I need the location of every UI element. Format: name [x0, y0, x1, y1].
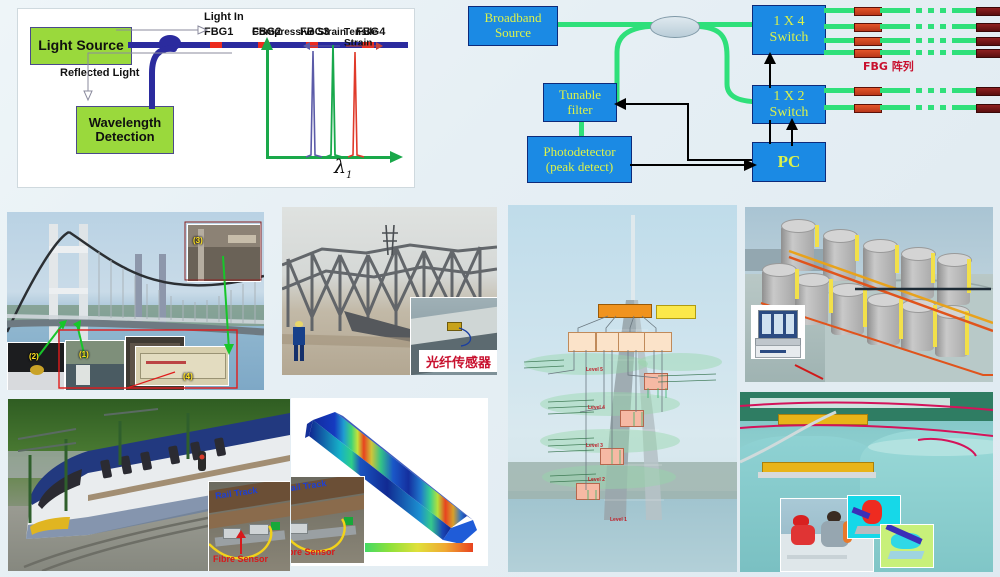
fem-rail-inset: Rail Track Fibre Sensor [291, 476, 365, 564]
wd-line2: Detection [95, 129, 154, 144]
pc-to-switch1x2-arrow [785, 118, 799, 146]
photodetector-to-pc-arrow [630, 158, 758, 172]
tower-level-4-label: Level 4 [588, 405, 605, 411]
fbg-array-row-2 [824, 24, 1000, 29]
laptop-screen [758, 310, 798, 340]
interrogator-inset [751, 305, 805, 359]
tower-level-3-label: Level 3 [586, 443, 603, 449]
photodetector-line2: (peak detect) [546, 159, 613, 174]
bridge-callout-4: (4) [183, 372, 193, 381]
fbg-array-row-1 [824, 8, 1000, 13]
tensile-peak [348, 47, 364, 159]
broadband-source-line1: Broadband [484, 10, 541, 25]
pc-to-tunable-filter-arrow [610, 90, 760, 190]
broadband-source-line2: Source [495, 25, 531, 40]
fbg-principle-panel: Light Source Wavelength Detection FBG1 F… [17, 8, 415, 188]
switch-1x4-line1: 1 X 4 [773, 14, 804, 29]
lambda-subscript: 1 [346, 170, 352, 181]
worker-red [791, 515, 817, 549]
tower-photo-panel: Level 5 Level 4 Level 3 Level 2 Level 1 [508, 205, 737, 572]
stadium-sensor-inset: 光纤传感器 [410, 297, 497, 375]
fibre-sensor-pointer [233, 530, 253, 554]
interrogator-unit [755, 345, 801, 358]
pc-label: PC [778, 152, 801, 171]
fbg-tick-1 [210, 42, 222, 48]
sensor-cable [445, 324, 495, 350]
bridge-photo-panel: (2) (1) (3) (4) [7, 212, 264, 390]
y-axis-arrowhead [260, 37, 274, 51]
lambda-glyph: λ [334, 156, 346, 178]
tower-fiber-network [508, 300, 737, 530]
fbg-array-row-5 [824, 88, 1000, 93]
switch-1x4-line2: Switch [770, 30, 809, 45]
worker-figure [292, 321, 306, 361]
fbg-array-row-6 [824, 105, 1000, 110]
wavelength-detection-block: Wavelength Detection [76, 106, 174, 154]
rail-sensor-inset: Rail Track Fibre Sensor [208, 481, 290, 571]
reflection-spectrum-plot: Compressive Strain Tensile Strain λ1 [246, 23, 406, 181]
optical-coupler-icon [650, 16, 700, 38]
fbg-interrogation-system-panel: BroadbandSource Tunablefilter Photodetec… [455, 0, 1000, 196]
photodetector-line1: Photodetector [543, 144, 615, 159]
switch-1x4-block: 1 X 4Switch [752, 5, 826, 55]
wd-line1: Wavelength [89, 115, 161, 130]
fem-cyan-inset [880, 524, 934, 568]
stadium-caption: 光纤传感器 [426, 352, 491, 371]
fbg-array-row-3 [824, 38, 1000, 43]
bridge-callout-arrows [7, 212, 264, 390]
light-in-label: Light In [204, 11, 244, 23]
switch1x2-to-switch1x4-arrow [763, 52, 777, 88]
tunable-filter-line2: filter [567, 102, 592, 117]
fem-inset-sensor-label: Fibre Sensor [291, 547, 335, 557]
tower-level-2-label: Level 2 [588, 477, 605, 483]
broadband-source-block: BroadbandSource [468, 6, 558, 46]
tunable-filter-line1: Tunable [559, 87, 601, 102]
tunable-filter-block: Tunablefilter [543, 83, 617, 122]
tower-antenna [631, 215, 635, 305]
fbg-array-label: FBG 阵列 [863, 58, 914, 74]
fibre-sensor-label: Fibre Sensor [213, 554, 268, 564]
pc-to-switch1x4-line [763, 120, 777, 144]
tower-level-5-label: Level 5 [586, 367, 603, 373]
pc-block: PC [752, 142, 826, 182]
tank-field-photo-panel [740, 392, 993, 572]
tank-farm-photo-panel [745, 207, 993, 382]
light-in-arrow [116, 25, 208, 35]
wavelength-detection-label: Wavelength Detection [89, 116, 161, 145]
train-photo-panel: Rail Track Fibre Sensor [8, 399, 290, 571]
tower-level-1-label: Level 1 [610, 517, 627, 523]
bridge-callout-3: (3) [193, 236, 203, 245]
compressive-peak [306, 45, 322, 159]
bridge-callout-1: (1) [79, 350, 89, 359]
stadium-caption-box: 光纤传感器 [419, 350, 497, 372]
fem-analysis-panel: Rail Track Fibre Sensor [291, 398, 488, 566]
fbg-label-1: FBG1 [204, 26, 233, 38]
center-peak [326, 41, 342, 159]
lambda-axis-label: λ1 [334, 156, 352, 181]
spectrum-y-axis [266, 47, 269, 159]
bridge-callout-2: (2) [29, 352, 39, 361]
x-axis-arrowhead [390, 150, 404, 164]
switch-1x2-line1: 1 X 2 [773, 89, 804, 104]
fbg-array-row-4 [824, 50, 1000, 55]
reflected-light-arrow [54, 49, 234, 103]
stadium-photo-panel: 光纤传感器 [282, 207, 497, 375]
